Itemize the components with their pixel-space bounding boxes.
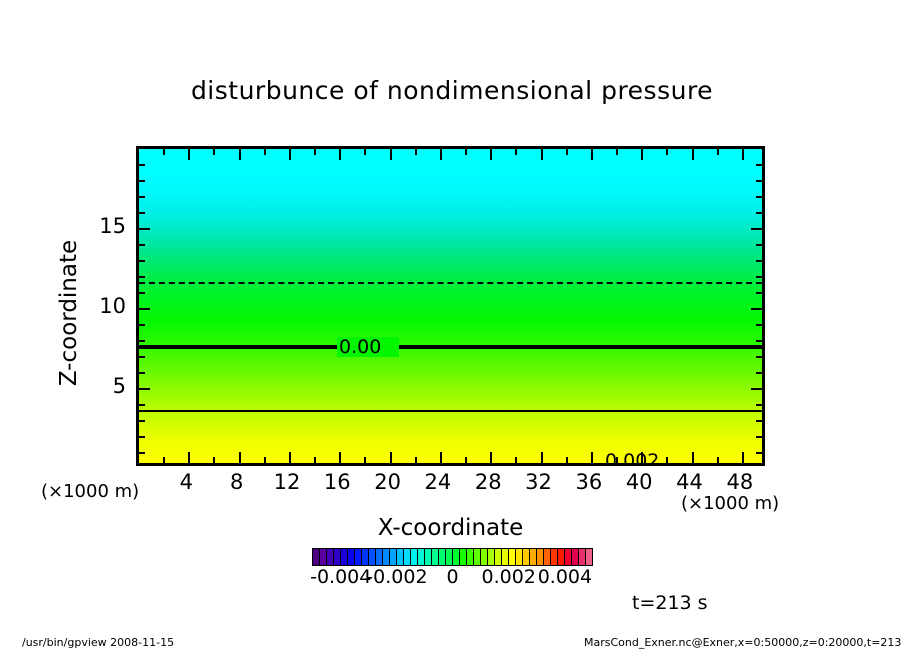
x-tick-major-top xyxy=(390,149,392,160)
y-tick-major-right xyxy=(751,228,762,230)
x-tick-minor xyxy=(264,457,266,463)
plot-frame: 0.00 0.002 xyxy=(136,146,765,466)
colorbar-cell xyxy=(502,549,509,565)
x-tick-major-top xyxy=(339,149,341,160)
x-tick-major xyxy=(490,452,492,463)
y-tick-minor xyxy=(139,212,145,214)
x-tick-minor-top xyxy=(566,149,568,155)
x-tick-major xyxy=(339,452,341,463)
y-tick-label: 10 xyxy=(96,294,126,318)
x-tick-minor-top xyxy=(616,149,618,155)
colorbar-tick-label: -0.004 xyxy=(310,566,370,588)
x-tick-minor-top xyxy=(163,149,165,155)
colorbar-cell xyxy=(460,549,467,565)
x-tick-label: 32 xyxy=(519,470,559,494)
colorbar-cell xyxy=(320,549,327,565)
contour-line-dashed xyxy=(139,282,762,284)
x-tick-label: 48 xyxy=(720,470,760,494)
colorbar-cell xyxy=(418,549,425,565)
x-axis-title: X-coordinate xyxy=(136,515,765,541)
colorbar-cell xyxy=(579,549,586,565)
y-tick-minor-right xyxy=(756,324,762,326)
y-tick-minor-right xyxy=(756,164,762,166)
colorbar-cell xyxy=(369,549,376,565)
colorbar-cell xyxy=(376,549,383,565)
x-tick-major-top xyxy=(742,149,744,160)
x-tick-major xyxy=(541,452,543,463)
y-tick-major-right xyxy=(751,388,762,390)
y-tick-minor-right xyxy=(756,436,762,438)
x-tick-label: 16 xyxy=(317,470,357,494)
colorbar-cell xyxy=(481,549,488,565)
y-tick-minor-right xyxy=(756,244,762,246)
y-tick-minor xyxy=(139,436,145,438)
contour-plot-canvas: 0.00 0.002 xyxy=(139,149,762,463)
colorbar-cell xyxy=(439,549,446,565)
x-axis-unit-left: (×1000 m) xyxy=(41,481,139,502)
x-tick-label: 20 xyxy=(368,470,408,494)
x-tick-minor-top xyxy=(415,149,417,155)
x-tick-minor xyxy=(415,457,417,463)
x-tick-major-top xyxy=(239,149,241,160)
colorbar-cell xyxy=(348,549,355,565)
x-tick-minor xyxy=(364,457,366,463)
x-tick-minor-top xyxy=(213,149,215,155)
x-tick-label: 40 xyxy=(619,470,659,494)
y-tick-minor-right xyxy=(756,340,762,342)
x-tick-major xyxy=(390,452,392,463)
y-tick-major xyxy=(139,228,150,230)
x-tick-major xyxy=(641,452,643,463)
colorbar-cell xyxy=(558,549,565,565)
colorbar xyxy=(312,548,593,566)
y-tick-minor xyxy=(139,420,145,422)
y-tick-minor-right xyxy=(756,420,762,422)
x-tick-minor-top xyxy=(364,149,366,155)
y-tick-minor xyxy=(139,404,145,406)
colorbar-cell xyxy=(446,549,453,565)
colorbar-cell xyxy=(341,549,348,565)
x-tick-label: 12 xyxy=(267,470,307,494)
colorbar-cell xyxy=(537,549,544,565)
y-tick-minor xyxy=(139,452,145,454)
x-tick-minor-top xyxy=(666,149,668,155)
y-tick-major xyxy=(139,388,150,390)
page-title: disturbunce of nondimensional pressure xyxy=(0,76,904,105)
x-tick-major-top xyxy=(188,149,190,160)
x-tick-minor xyxy=(666,457,668,463)
x-tick-major xyxy=(440,452,442,463)
y-tick-minor-right xyxy=(756,452,762,454)
y-axis-title: Z-coordinate xyxy=(56,213,82,413)
x-axis-unit-right: (×1000 m) xyxy=(681,493,779,514)
footer-command-text: /usr/bin/gpview 2008-11-15 xyxy=(22,636,174,649)
colorbar-cell xyxy=(411,549,418,565)
y-tick-minor-right xyxy=(756,276,762,278)
x-tick-major-top xyxy=(541,149,543,160)
x-tick-minor-top xyxy=(264,149,266,155)
contour-line-zero xyxy=(139,345,762,349)
y-tick-major xyxy=(139,308,150,310)
x-tick-major xyxy=(239,452,241,463)
y-tick-minor-right xyxy=(756,212,762,214)
x-tick-label: 8 xyxy=(217,470,257,494)
y-tick-major-right xyxy=(751,308,762,310)
y-tick-minor xyxy=(139,324,145,326)
colorbar-cell xyxy=(544,549,551,565)
x-tick-minor-top xyxy=(314,149,316,155)
x-tick-minor xyxy=(566,457,568,463)
x-tick-minor-top xyxy=(717,149,719,155)
x-tick-major xyxy=(289,452,291,463)
colorbar-cell xyxy=(516,549,523,565)
colorbar-cell xyxy=(327,549,334,565)
colorbar-cell xyxy=(383,549,390,565)
colorbar-tick-label: 0 xyxy=(423,566,483,588)
x-tick-minor xyxy=(465,457,467,463)
x-tick-major xyxy=(591,452,593,463)
y-tick-minor xyxy=(139,164,145,166)
x-tick-minor xyxy=(515,457,517,463)
y-tick-minor xyxy=(139,356,145,358)
y-tick-minor-right xyxy=(756,292,762,294)
y-tick-label: 15 xyxy=(96,214,126,238)
colorbar-cell xyxy=(509,549,516,565)
colorbar-tick-label: 0.004 xyxy=(535,566,595,588)
colorbar-cell xyxy=(523,549,530,565)
colorbar-cell xyxy=(362,549,369,565)
x-tick-major xyxy=(742,452,744,463)
y-tick-minor xyxy=(139,276,145,278)
x-tick-minor xyxy=(616,457,618,463)
x-tick-major xyxy=(188,452,190,463)
y-tick-minor xyxy=(139,372,145,374)
colorbar-cells xyxy=(312,548,593,566)
colorbar-cell xyxy=(586,549,592,565)
x-tick-minor xyxy=(314,457,316,463)
colorbar-cell xyxy=(453,549,460,565)
colorbar-cell xyxy=(495,549,502,565)
x-tick-minor xyxy=(163,457,165,463)
y-tick-minor-right xyxy=(756,404,762,406)
y-tick-minor xyxy=(139,244,145,246)
colorbar-cell xyxy=(488,549,495,565)
contour-label-0002: 0.002 xyxy=(605,452,659,466)
x-tick-major xyxy=(692,452,694,463)
colorbar-tick-label: -0.002 xyxy=(366,566,426,588)
colorbar-tick-label: 0.002 xyxy=(479,566,539,588)
x-tick-label: 28 xyxy=(468,470,508,494)
y-tick-minor xyxy=(139,196,145,198)
colorbar-cell xyxy=(467,549,474,565)
y-tick-minor xyxy=(139,340,145,342)
x-tick-label: 24 xyxy=(418,470,458,494)
time-annotation: t=213 s xyxy=(632,592,708,614)
colorbar-cell xyxy=(404,549,411,565)
x-tick-major-top xyxy=(641,149,643,160)
colorbar-cell xyxy=(397,549,404,565)
contour-label-zero: 0.00 xyxy=(339,338,381,357)
x-tick-label: 4 xyxy=(166,470,206,494)
x-tick-major-top xyxy=(692,149,694,160)
colorbar-cell xyxy=(572,549,579,565)
colorbar-cell xyxy=(313,549,320,565)
x-tick-minor-top xyxy=(515,149,517,155)
y-tick-minor xyxy=(139,292,145,294)
y-tick-label: 5 xyxy=(96,374,126,398)
x-tick-major-top xyxy=(490,149,492,160)
y-tick-minor xyxy=(139,180,145,182)
y-tick-minor-right xyxy=(756,356,762,358)
x-tick-label: 36 xyxy=(569,470,609,494)
x-tick-major-top xyxy=(440,149,442,160)
colorbar-cell xyxy=(432,549,439,565)
y-tick-minor-right xyxy=(756,260,762,262)
x-tick-minor xyxy=(717,457,719,463)
y-tick-minor-right xyxy=(756,180,762,182)
colorbar-cell xyxy=(551,549,558,565)
colorbar-cell xyxy=(390,549,397,565)
x-tick-minor xyxy=(213,457,215,463)
colorbar-cell xyxy=(565,549,572,565)
colorbar-cell xyxy=(474,549,481,565)
y-tick-minor-right xyxy=(756,196,762,198)
x-tick-minor-top xyxy=(465,149,467,155)
colorbar-tick-labels: -0.004-0.00200.0020.004 xyxy=(300,566,610,588)
colorbar-cell xyxy=(425,549,432,565)
colorbar-cell xyxy=(334,549,341,565)
y-tick-minor xyxy=(139,260,145,262)
x-tick-major-top xyxy=(289,149,291,160)
contour-line-lower xyxy=(139,410,762,412)
x-tick-major-top xyxy=(591,149,593,160)
colorbar-cell xyxy=(355,549,362,565)
pressure-field-gradient xyxy=(139,149,762,463)
x-tick-label: 44 xyxy=(670,470,710,494)
colorbar-cell xyxy=(530,549,537,565)
y-tick-minor-right xyxy=(756,372,762,374)
footer-dataset-text: MarsCond_Exner.nc@Exner,x=0:50000,z=0:20… xyxy=(584,636,901,649)
